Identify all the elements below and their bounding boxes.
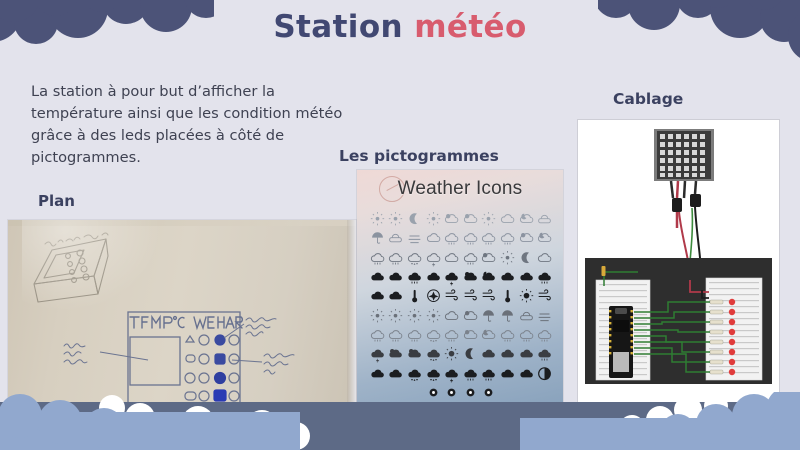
weather-icon-cloudRain bbox=[480, 229, 499, 248]
weather-icon-cloudBolt bbox=[368, 345, 387, 364]
weather-icon-cloudSnow bbox=[405, 249, 424, 268]
weather-icon-cloud bbox=[387, 365, 406, 384]
weather-icon-cloudRain bbox=[387, 326, 406, 345]
weather-icon-cloudSun bbox=[461, 307, 480, 326]
weather-icon-cloudSun bbox=[442, 210, 461, 229]
weather-icon-cloud bbox=[442, 307, 461, 326]
weather-icon-wind bbox=[442, 287, 461, 306]
weather-icon-cloud bbox=[517, 345, 536, 364]
weather-icon-cloud bbox=[517, 268, 536, 287]
weather-icon-sun bbox=[424, 210, 443, 229]
weather-icon-compass bbox=[424, 287, 443, 306]
weather-icon-cloudRain bbox=[461, 365, 480, 384]
weather-icon-sun bbox=[480, 210, 499, 229]
weather-icon-cloudRain bbox=[535, 268, 554, 287]
weather-icon-cloudSun bbox=[461, 210, 480, 229]
bottom-cloud-icon bbox=[0, 392, 800, 450]
weather-icon-wind bbox=[461, 287, 480, 306]
weather-icon-wind bbox=[480, 287, 499, 306]
title-part-meteo: météo bbox=[414, 9, 526, 45]
plan-image: Photo d’un croquis à main levée sur papi… bbox=[8, 220, 356, 412]
weather-icon-cloudRain bbox=[461, 249, 480, 268]
weather-icon-cloudRain bbox=[368, 249, 387, 268]
weather-icon-cloud bbox=[498, 365, 517, 384]
slide-title: Station météo bbox=[0, 8, 800, 46]
weather-icon-fog bbox=[535, 307, 554, 326]
weather-icon-cloudSun bbox=[517, 229, 536, 248]
weather-icon-cloudSun bbox=[461, 326, 480, 345]
weather-icon-sun bbox=[405, 307, 424, 326]
weather-icon-cloudRain bbox=[480, 365, 499, 384]
weather-icon-sun bbox=[424, 307, 443, 326]
weather-icon-cloudBolt bbox=[442, 365, 461, 384]
weather-icon-cloudSun bbox=[387, 345, 406, 364]
weather-icon-cloudRain bbox=[498, 326, 517, 345]
weather-icon-moon bbox=[405, 210, 424, 229]
weather-icon-cloud bbox=[498, 210, 517, 229]
weather-icon-sun bbox=[368, 307, 387, 326]
weather-icon-cloud bbox=[387, 268, 406, 287]
weather-icon-sun bbox=[517, 287, 536, 306]
weather-icon-cloudRain bbox=[405, 268, 424, 287]
weather-icon-cloudSun bbox=[405, 345, 424, 364]
weather-icon-cloudRain bbox=[405, 326, 424, 345]
weather-icon-cloudRain bbox=[442, 326, 461, 345]
weather-icon-therm bbox=[405, 287, 424, 306]
weather-icon-barometer bbox=[517, 307, 536, 326]
weather-icon-cloudRain bbox=[517, 326, 536, 345]
weather-icon-wind bbox=[535, 287, 554, 306]
project-board bbox=[585, 258, 772, 384]
weather-icon-cloud bbox=[535, 249, 554, 268]
weather-icon-cloudMoon bbox=[480, 326, 499, 345]
pictogrammes-image: Weather Icons Affiche d’une grille d’icô… bbox=[357, 170, 563, 402]
weather-icon-cloudSnow bbox=[424, 326, 443, 345]
weather-icon-cloudRain bbox=[498, 229, 517, 248]
weather-icon-cloudMoon bbox=[480, 268, 499, 287]
weather-icon-cloud bbox=[498, 268, 517, 287]
weather-icon-cloudMoon bbox=[517, 210, 536, 229]
heading-plan: Plan bbox=[38, 192, 75, 210]
pictogrammes-image-alt: Affiche d’une grille d’icônes météo en n… bbox=[357, 170, 358, 171]
weather-icon-cloud bbox=[387, 287, 406, 306]
weather-icon-umbrella bbox=[368, 229, 387, 248]
weather-icon-cloudSun bbox=[461, 268, 480, 287]
weather-icon-cloudBolt bbox=[424, 249, 443, 268]
weather-icon-barometer bbox=[387, 229, 406, 248]
weather-icon-umbrella bbox=[480, 307, 499, 326]
weather-icon-cloudRain bbox=[368, 326, 387, 345]
weather-icon-sun bbox=[387, 210, 406, 229]
weather-icon-moon bbox=[517, 249, 536, 268]
heading-cablage: Cablage bbox=[613, 90, 683, 108]
weather-icon-cloudRain bbox=[442, 229, 461, 248]
weather-icon-cloudBolt bbox=[442, 268, 461, 287]
weather-icon-cloudSnow bbox=[424, 365, 443, 384]
weather-icon-cloud bbox=[442, 249, 461, 268]
weather-icon-cloudRain bbox=[461, 229, 480, 248]
weather-icon-therm bbox=[498, 287, 517, 306]
weather-icon-cloud bbox=[368, 268, 387, 287]
plan-photo-right-edge bbox=[347, 220, 356, 412]
title-part-station: Station bbox=[273, 9, 414, 45]
poster-title: Weather Icons bbox=[357, 178, 563, 200]
weather-icon-cloud bbox=[498, 345, 517, 364]
weather-icon-halfmoon bbox=[535, 365, 554, 384]
weather-icon-cloud bbox=[424, 229, 443, 248]
weather-icon-cloud bbox=[424, 268, 443, 287]
weather-icon-cloudRain bbox=[387, 249, 406, 268]
weather-icon-umbrella bbox=[498, 307, 517, 326]
weather-icon-cloud bbox=[480, 345, 499, 364]
weather-icon-cloudSnow bbox=[424, 345, 443, 364]
intro-paragraph: La station à pour but d’afficher la temp… bbox=[31, 81, 361, 169]
plan-photo-glare bbox=[22, 220, 161, 312]
weather-icon-fog bbox=[405, 229, 424, 248]
weather-icon-cloud bbox=[517, 365, 536, 384]
bottom-cloud-band bbox=[0, 392, 800, 450]
weather-icon-sun bbox=[387, 307, 406, 326]
weather-icon-sun bbox=[368, 210, 387, 229]
weather-icon-barometer bbox=[535, 210, 554, 229]
weather-icon-grid bbox=[368, 210, 554, 384]
weather-icon-cloudSnow bbox=[405, 365, 424, 384]
weather-icon-cloudSun bbox=[480, 249, 499, 268]
weather-icon-cloudMoon bbox=[535, 229, 554, 248]
weather-icon-sun bbox=[498, 249, 517, 268]
weather-icon-moon bbox=[461, 345, 480, 364]
weather-icon-cloud bbox=[368, 287, 387, 306]
slide: Station météo La station à pour but d’af… bbox=[0, 0, 800, 450]
weather-icon-cloudRain bbox=[535, 345, 554, 364]
weather-icon-cloudRain bbox=[535, 326, 554, 345]
weather-icon-sun bbox=[442, 345, 461, 364]
wiring-diagram bbox=[578, 120, 779, 403]
cablage-image: Schéma de câblage : matrice de leds reli… bbox=[578, 120, 779, 403]
heading-pictogrammes: Les pictogrammes bbox=[339, 147, 499, 165]
weather-icon-cloud bbox=[368, 365, 387, 384]
